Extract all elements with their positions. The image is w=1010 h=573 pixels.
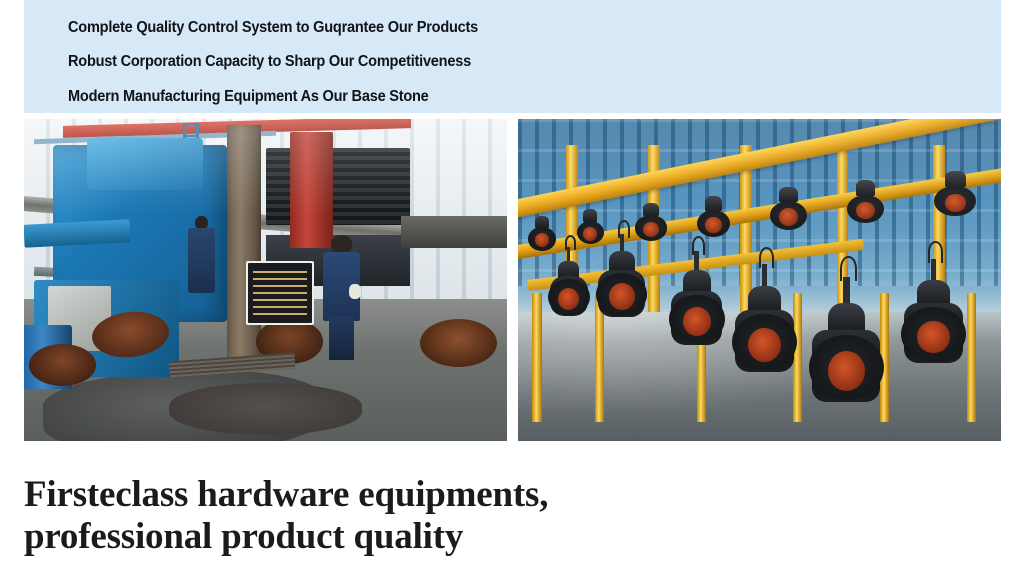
machine-shop-scene <box>24 119 507 441</box>
photo-row <box>24 119 1001 441</box>
tagline-1: Complete Quality Control System to Guqra… <box>68 11 945 45</box>
valve-line-scene <box>518 119 1001 441</box>
valve-coating-line-photo <box>518 119 1001 441</box>
headline-line-2: professional product quality <box>24 516 784 558</box>
valve-line-light-haze <box>518 119 1001 441</box>
tagline-2: Robust Corporation Capacity to Sharp Our… <box>68 45 945 79</box>
machine-shop-photo <box>24 119 507 441</box>
workshop-light-haze <box>24 119 507 441</box>
headline-line-1: Firsteclass hardware equipments, <box>24 474 784 516</box>
tagline-banner: Complete Quality Control System to Guqra… <box>24 0 1001 113</box>
page-headline: Firsteclass hardware equipments, profess… <box>24 474 784 558</box>
tagline-3: Modern Manufacturing Equipment As Our Ba… <box>68 80 945 114</box>
